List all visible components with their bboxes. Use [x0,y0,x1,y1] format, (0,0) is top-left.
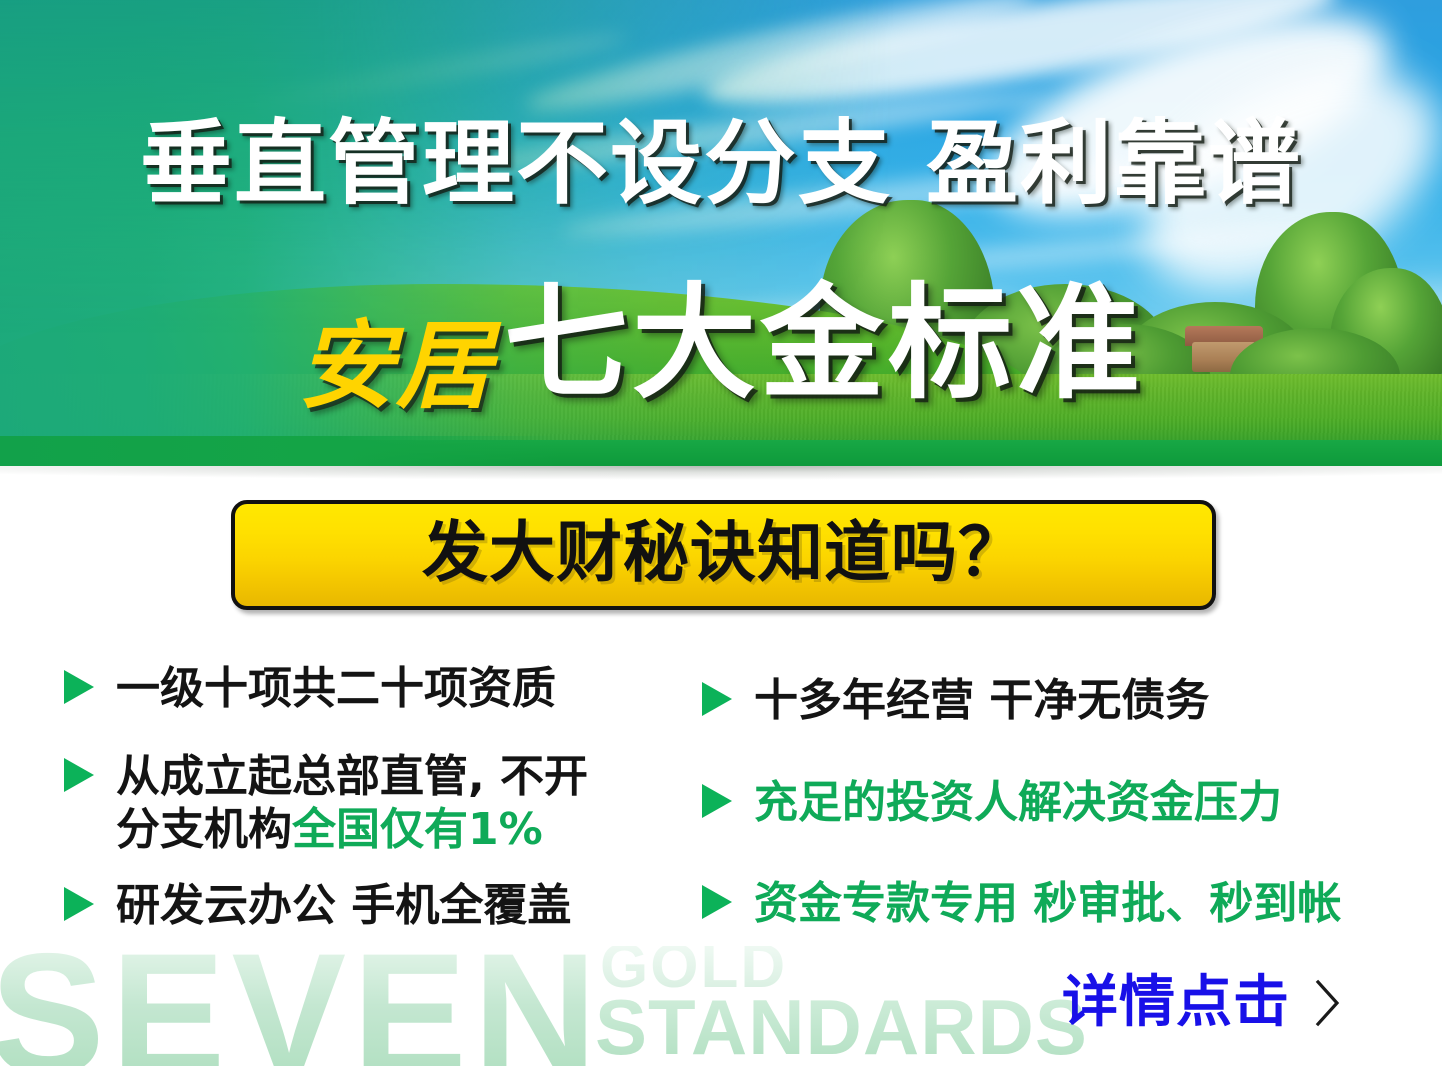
hero-banner: 垂直管理不设分支 盈利靠谱 安居七大金标准 [0,0,1442,466]
feature-text: 资金专款专用 秒审批、秒到帐 [754,877,1341,931]
features-column-right: 十多年经营 干净无债务 充足的投资人解决资金压力 资金专款专用 秒审批、秒到帐 [700,674,1400,979]
feature-item: 十多年经营 干净无债务 [700,674,1400,728]
feature-item: 一级十项共二十项资质 [62,662,702,716]
hero-drop-shadow [0,466,1442,480]
highlight-banner-text: 发大财秘诀知道吗？ [422,520,1025,586]
feature-text: 十多年经营 干净无债务 [754,674,1209,728]
feature-text-line1: 从成立起总部直管, 不开 [116,751,588,802]
highlight-banner[interactable]: 发大财秘诀知道吗？ [231,500,1216,610]
feature-item: 从成立起总部直管, 不开分支机构全国仅有1% [62,750,702,857]
feature-text: 充足的投资人解决资金压力 [754,776,1282,830]
feature-text: 从成立起总部直管, 不开分支机构全国仅有1% [116,750,588,857]
feature-item: 研发云办公 手机全覆盖 [62,879,702,933]
details-cta-label: 详情点击 [1062,975,1290,1031]
feature-text-line2: 分支机构 [116,804,292,855]
hero-subheadline: 七大金标准 [504,272,1144,416]
feature-item: 资金专款专用 秒审批、秒到帐 [700,877,1400,931]
watermark-standards: STANDARDS [595,988,1088,1066]
details-cta[interactable]: 详情点击 [1062,975,1342,1031]
triangle-right-icon [700,877,738,921]
features-column-left: 一级十项共二十项资质 从成立起总部直管, 不开分支机构全国仅有1% 研发云办公 … [62,662,702,967]
triangle-right-icon [700,674,738,718]
triangle-right-icon [62,662,100,706]
triangle-right-icon [700,776,738,820]
hero-subheadline-row: 安居七大金标准 [0,282,1442,406]
features-section: 一级十项共二十项资质 从成立起总部直管, 不开分支机构全国仅有1% 研发云办公 … [0,662,1442,992]
feature-text: 研发云办公 手机全覆盖 [116,879,571,933]
feature-item: 充足的投资人解决资金压力 [700,776,1400,830]
hero-bottom-strip-left [0,436,560,466]
feature-text: 一级十项共二十项资质 [116,662,556,716]
feature-text-highlight: 全国仅有1% [292,804,543,855]
hero-headline: 垂直管理不设分支 盈利靠谱 [0,118,1442,210]
chevron-right-icon [1312,977,1342,1029]
hero-brand-accent: 安居 [298,309,494,422]
triangle-right-icon [62,879,100,923]
triangle-right-icon [62,750,100,794]
